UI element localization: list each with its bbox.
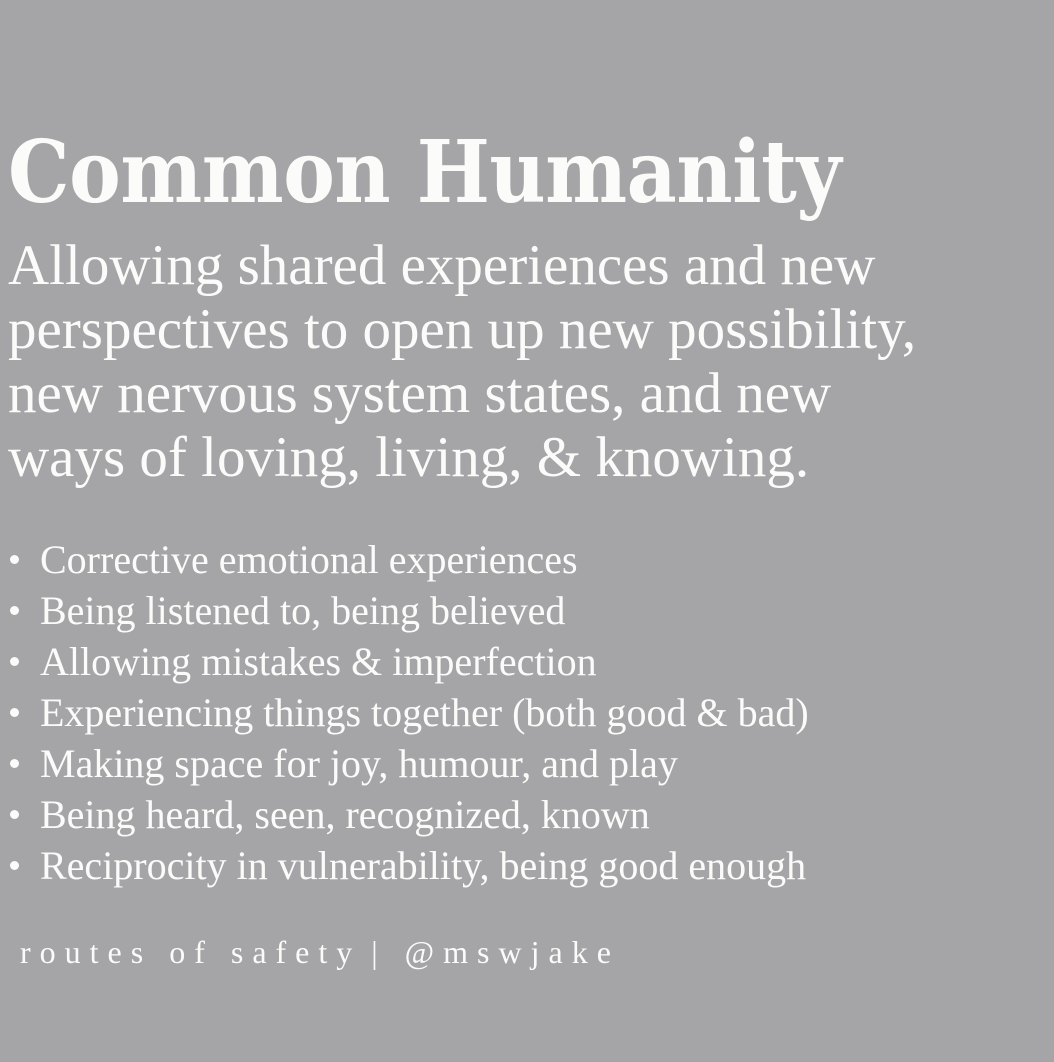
list-item-label: Corrective emotional experiences [40,537,578,582]
bullet-dot-icon [10,810,19,819]
bullet-dot-icon [10,657,19,666]
lead-line-3: new nervous system states, and new [8,362,1054,426]
bullet-dot-icon [10,759,19,768]
list-item: Corrective emotional experiences [8,534,809,585]
lead-line-1: Allowing shared experiences and new [8,234,1054,298]
list-item-label: Experiencing things together (both good … [40,690,809,735]
list-item-label: Being listened to, being believed [40,588,565,633]
list-item: Experiencing things together (both good … [8,687,809,738]
list-item-label: Being heard, seen, recognized, known [40,792,650,837]
lead-line-2: perspectives to open up new possibility, [8,298,1054,362]
list-item: Being listened to, being believed [8,585,809,636]
bullet-dot-icon [10,606,19,615]
bullet-dot-icon [10,708,19,717]
list-item: Reciprocity in vulnerability, being good… [8,840,809,891]
list-item-label: Reciprocity in vulnerability, being good… [40,843,806,888]
quote-card: Common Humanity Allowing shared experien… [0,0,1054,1062]
list-item: Making space for joy, humour, and play [8,738,809,789]
bullet-list: Corrective emotional experiences Being l… [8,534,809,891]
list-item-label: Making space for joy, humour, and play [40,741,678,786]
list-item: Being heard, seen, recognized, known [8,789,809,840]
bullet-dot-icon [10,555,19,564]
lead-line-4: ways of loving, living, & knowing. [8,426,1054,490]
bullet-dot-icon [10,861,19,870]
page-title: Common Humanity [8,130,841,216]
footer-handle: @mswjake [405,934,620,970]
footer-credit: routes of safety|@mswjake [20,930,620,974]
lead-paragraph: Allowing shared experiences and new pers… [8,234,1054,490]
list-item-label: Allowing mistakes & imperfection [40,639,597,684]
footer-brand: routes of safety [20,934,361,970]
footer-separator: | [361,934,404,970]
list-item: Allowing mistakes & imperfection [8,636,809,687]
